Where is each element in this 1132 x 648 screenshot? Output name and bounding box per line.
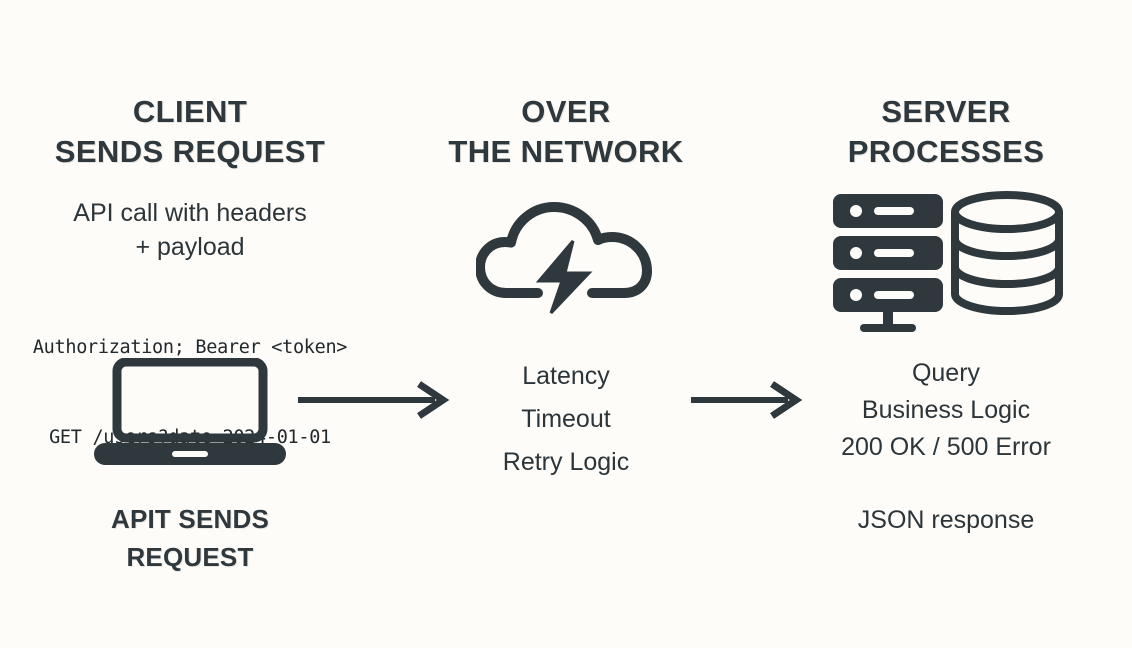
network-heading-line1: OVER [382, 92, 750, 132]
server-subcaption: JSON response [760, 503, 1132, 537]
server-body-line3: 200 OK / 500 Error [760, 429, 1132, 466]
database-cylinder-icon [955, 195, 1059, 311]
network-body-line3: Retry Logic [382, 441, 750, 484]
server-heading-line1: SERVER [760, 92, 1132, 132]
server-database-icon-group [760, 188, 1132, 333]
server-heading-line2: PROCESSES [760, 132, 1132, 172]
network-heading-line2: THE NETWORK [382, 132, 750, 172]
column-client: CLIENT SENDS REQUEST API call with heade… [0, 0, 380, 648]
client-body-text: API call with headers + payload [0, 196, 380, 264]
client-body-line2: + payload [0, 230, 380, 264]
column-network: OVER THE NETWORK Latency Timeout Retry L… [382, 0, 750, 648]
server-body-text: Query Business Logic 200 OK / 500 Error [760, 355, 1132, 466]
client-caption-line2: REQUEST [0, 538, 380, 576]
client-heading-line2: SENDS REQUEST [0, 132, 380, 172]
server-rack-icon [833, 194, 943, 332]
server-body-line1: Query [760, 355, 1132, 392]
server-body-line2: Business Logic [760, 392, 1132, 429]
diagram-canvas: CLIENT SENDS REQUEST API call with heade… [0, 0, 1132, 648]
client-caption-line1: APIT SENDS [0, 500, 380, 538]
client-heading-line1: CLIENT [0, 92, 380, 132]
client-heading: CLIENT SENDS REQUEST [0, 92, 380, 172]
column-server: SERVER PROCESSES [760, 0, 1132, 648]
client-caption: APIT SENDS REQUEST [0, 500, 380, 576]
cloud-lightning-icon [382, 196, 750, 316]
server-heading: SERVER PROCESSES [760, 92, 1132, 172]
client-body-line1: API call with headers [0, 196, 380, 230]
network-heading: OVER THE NETWORK [382, 92, 750, 172]
